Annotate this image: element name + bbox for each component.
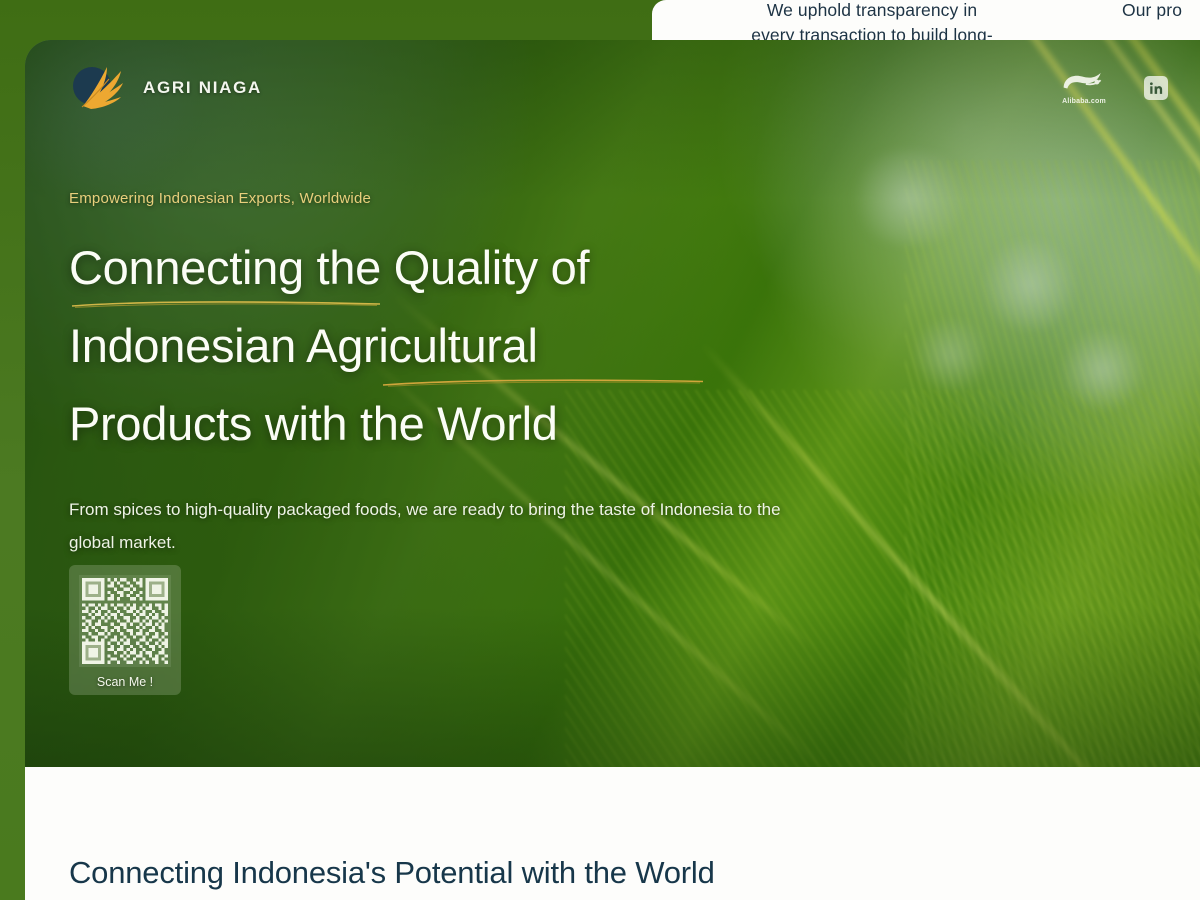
linkedin-icon[interactable]	[1144, 76, 1168, 100]
hero-section: AGRI NIAGA Alibaba.com	[25, 40, 1200, 767]
brand-logo[interactable]: AGRI NIAGA	[69, 59, 262, 117]
header-nav: AGRI NIAGA Alibaba.com	[25, 40, 1200, 136]
section-title: Connecting Indonesia's Potential with th…	[69, 855, 715, 891]
top-info-card-line1: We uphold transparency in	[662, 0, 1082, 23]
hero-headline-text-2: Indonesian Agricultural	[69, 319, 538, 372]
hero-headline-line-2: Indonesian Agricultural	[69, 307, 889, 385]
hero-headline-text-1: Connecting the Quality of	[69, 241, 589, 294]
hero-subcopy: From spices to high-quality packaged foo…	[69, 493, 809, 559]
qr-scan-label: Scan Me !	[79, 675, 171, 689]
top-info-card-products: Our pro	[1122, 0, 1200, 23]
hero-headline-line-1: Connecting the Quality of	[69, 229, 889, 307]
brand-name: AGRI NIAGA	[143, 78, 262, 98]
top-info-card-transparency: We uphold transparency in every transact…	[662, 0, 1082, 44]
qr-code-icon	[79, 575, 171, 667]
hero-copy: Empowering Indonesian Exports, Worldwide…	[69, 190, 889, 559]
alibaba-icon[interactable]: Alibaba.com	[1052, 71, 1116, 105]
hero-eyebrow: Empowering Indonesian Exports, Worldwide	[69, 190, 889, 207]
qr-card[interactable]: Scan Me !	[69, 565, 181, 695]
wheat-fan-icon	[69, 59, 127, 117]
alibaba-wordmark: Alibaba.com	[1052, 98, 1116, 105]
page-root: We uphold transparency in every transact…	[0, 0, 1200, 900]
hero-headline-line-3: Products with the World	[69, 385, 889, 463]
top-info-card2-line1: Our pro	[1122, 0, 1200, 23]
top-info-panel: We uphold transparency in every transact…	[652, 0, 1200, 44]
hero-headline-text-3: Products with the World	[69, 397, 558, 450]
intro-section: Connecting Indonesia's Potential with th…	[25, 767, 1200, 900]
hero-headline: Connecting the Quality of Indonesian Agr…	[69, 229, 889, 463]
header-links: Alibaba.com	[1052, 71, 1168, 105]
